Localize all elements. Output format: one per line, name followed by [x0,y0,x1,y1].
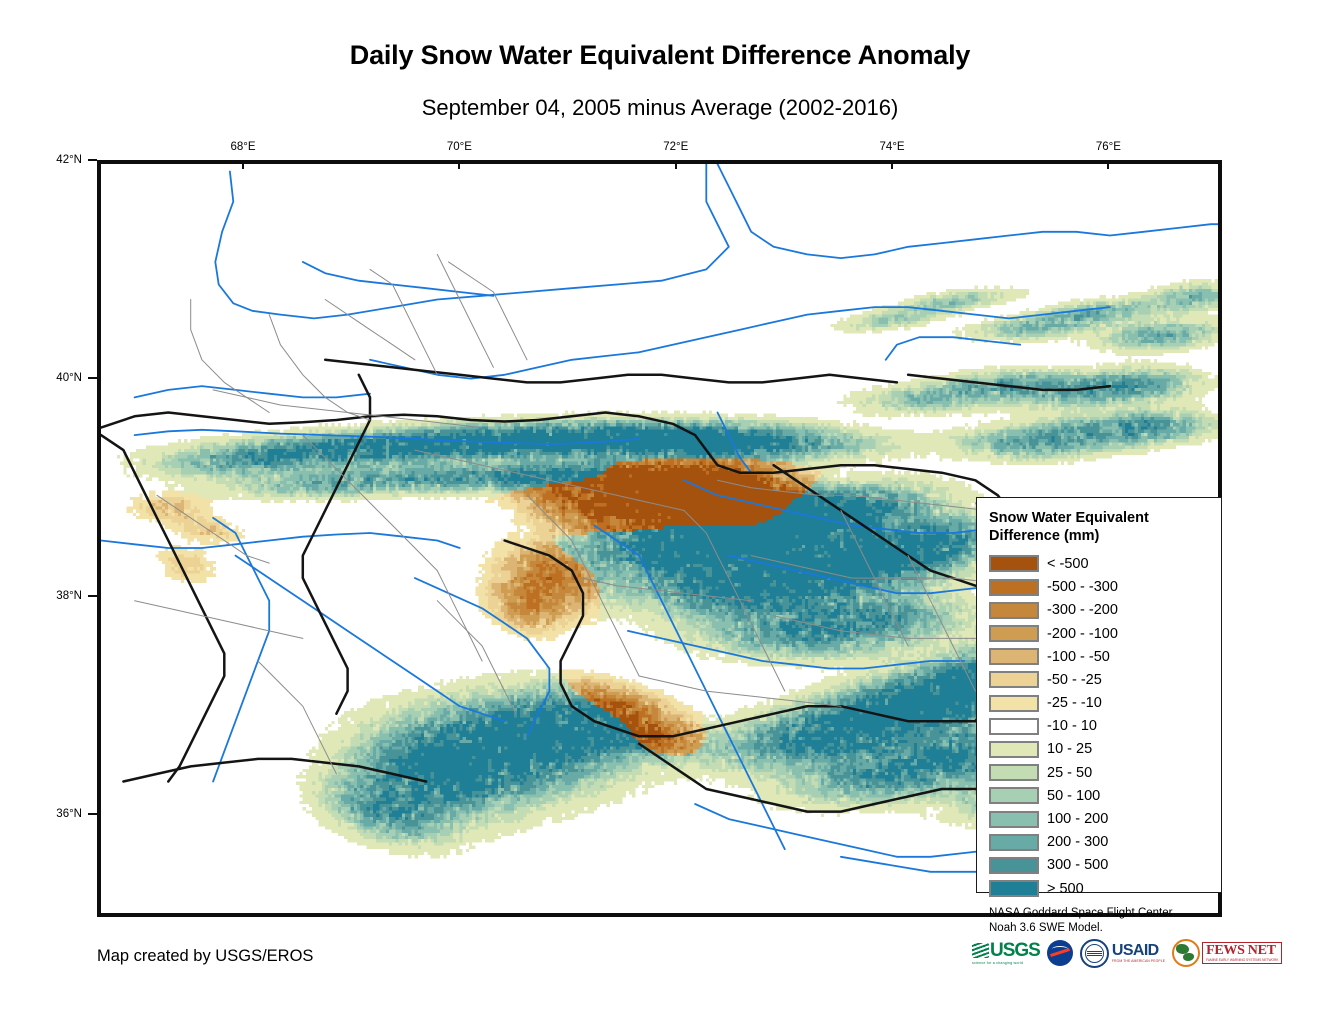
legend-swatch [989,741,1039,758]
legend-label: 50 - 100 [1047,788,1100,804]
river-line [215,164,729,318]
legend-swatch [989,648,1039,665]
legend-label: 10 - 25 [1047,741,1092,757]
page-subtitle: September 04, 2005 minus Average (2002-2… [0,95,1320,121]
legend-label: 300 - 500 [1047,857,1108,873]
x-axis-tick [242,160,244,169]
legend-row: -10 - 10 [989,715,1221,738]
globe-icon [1172,939,1200,967]
legend-swatch [989,579,1039,596]
page-title: Daily Snow Water Equivalent Difference A… [0,40,1320,71]
x-axis-label: 68°E [231,141,256,153]
admin-border [437,254,493,367]
legend-swatch [989,834,1039,851]
y-axis-label: 38°N [20,590,82,602]
x-axis-label: 74°E [880,141,905,153]
legend-label: -300 - -200 [1047,602,1118,618]
legend-source: NASA Goddard Space Flight Center Noah 3.… [989,906,1204,935]
legend-row: -300 - -200 [989,599,1221,622]
x-axis-label: 76°E [1096,141,1121,153]
admin-border [191,300,270,413]
usaid-logo: USAID FROM THE AMERICAN PEOPLE [1080,939,1165,968]
y-axis-tick [88,595,97,597]
river-line [886,337,1021,360]
legend-label: -500 - -300 [1047,579,1118,595]
y-axis-tick [88,159,97,161]
legend-row: 50 - 100 [989,784,1221,807]
admin-border [449,262,528,360]
x-axis-tick [891,160,893,169]
usgs-logo: USGS science for a changing world [972,938,1040,968]
legend-swatch [989,764,1039,781]
legend-label: -10 - 10 [1047,718,1097,734]
usaid-tagline: FROM THE AMERICAN PEOPLE [1112,960,1165,963]
map-credit: Map created by USGS/EROS [97,947,313,966]
usgs-wordmark: USGS [990,941,1040,960]
legend-swatch [989,880,1039,897]
agency-logos: USGS science for a changing world USAID … [972,936,1282,970]
legend-source-line2: Noah 3.6 SWE Model. [989,921,1204,936]
legend-title-line2: Difference (mm) [989,528,1189,546]
country-border [303,375,370,714]
legend-swatch [989,555,1039,572]
usaid-seal-icon [1080,939,1109,968]
river-line [101,533,460,548]
y-axis-label: 40°N [20,372,82,384]
legend-row: -25 - -10 [989,692,1221,715]
legend-row: < -500 [989,552,1221,575]
legend-items: < -500-500 - -300-300 - -200-200 - -100-… [989,552,1221,900]
country-border [325,360,897,383]
fews-net-tagline: FAMINE EARLY WARNING SYSTEMS NETWORK [1206,959,1278,962]
legend-swatch [989,718,1039,735]
admin-border [135,601,303,639]
legend-label: 200 - 300 [1047,834,1108,850]
legend-label: -50 - -25 [1047,672,1102,688]
map-legend: Snow Water Equivalent Difference (mm) < … [976,497,1222,893]
y-axis-tick [88,377,97,379]
fews-net-wordmark: FEWS NET [1206,944,1278,958]
legend-row: -100 - -50 [989,645,1221,668]
usgs-tagline: science for a changing world [972,961,1040,965]
legend-swatch [989,602,1039,619]
legend-label: 100 - 200 [1047,811,1108,827]
x-axis-tick [675,160,677,169]
legend-row: -500 - -300 [989,576,1221,599]
legend-label: > 500 [1047,881,1084,897]
usaid-wordmark: USAID [1112,943,1165,959]
legend-label: < -500 [1047,556,1089,572]
legend-swatch [989,695,1039,712]
legend-row: > 500 [989,877,1221,900]
x-axis-label: 70°E [447,141,472,153]
legend-row: 10 - 25 [989,738,1221,761]
legend-title: Snow Water Equivalent Difference (mm) [989,510,1189,545]
legend-source-line1: NASA Goddard Space Flight Center [989,906,1204,921]
x-axis-label: 72°E [663,141,688,153]
legend-row: 300 - 500 [989,854,1221,877]
fews-net-logo: FEWS NET FAMINE EARLY WARNING SYSTEMS NE… [1172,939,1282,967]
legend-swatch [989,811,1039,828]
legend-label: -200 - -100 [1047,626,1118,642]
legend-swatch [989,671,1039,688]
legend-row: 100 - 200 [989,807,1221,830]
river-line [135,386,370,397]
legend-swatch [989,787,1039,804]
legend-label: -100 - -50 [1047,649,1110,665]
y-axis-label: 36°N [20,808,82,820]
x-axis-tick [458,160,460,169]
river-line [718,164,1223,258]
legend-label: -25 - -10 [1047,695,1102,711]
river-line [303,262,494,296]
y-axis-tick [88,813,97,815]
legend-row: -50 - -25 [989,668,1221,691]
admin-border [269,315,370,420]
x-axis-tick [1107,160,1109,169]
legend-row: 200 - 300 [989,831,1221,854]
y-axis-label: 42°N [20,154,82,166]
legend-row: -200 - -100 [989,622,1221,645]
nasa-logo [1047,940,1073,966]
legend-row: 25 - 50 [989,761,1221,784]
legend-label: 25 - 50 [1047,765,1092,781]
legend-title-line1: Snow Water Equivalent [989,510,1189,528]
admin-border [325,300,415,360]
legend-swatch [989,625,1039,642]
legend-swatch [989,857,1039,874]
usgs-wave-icon [972,943,989,958]
